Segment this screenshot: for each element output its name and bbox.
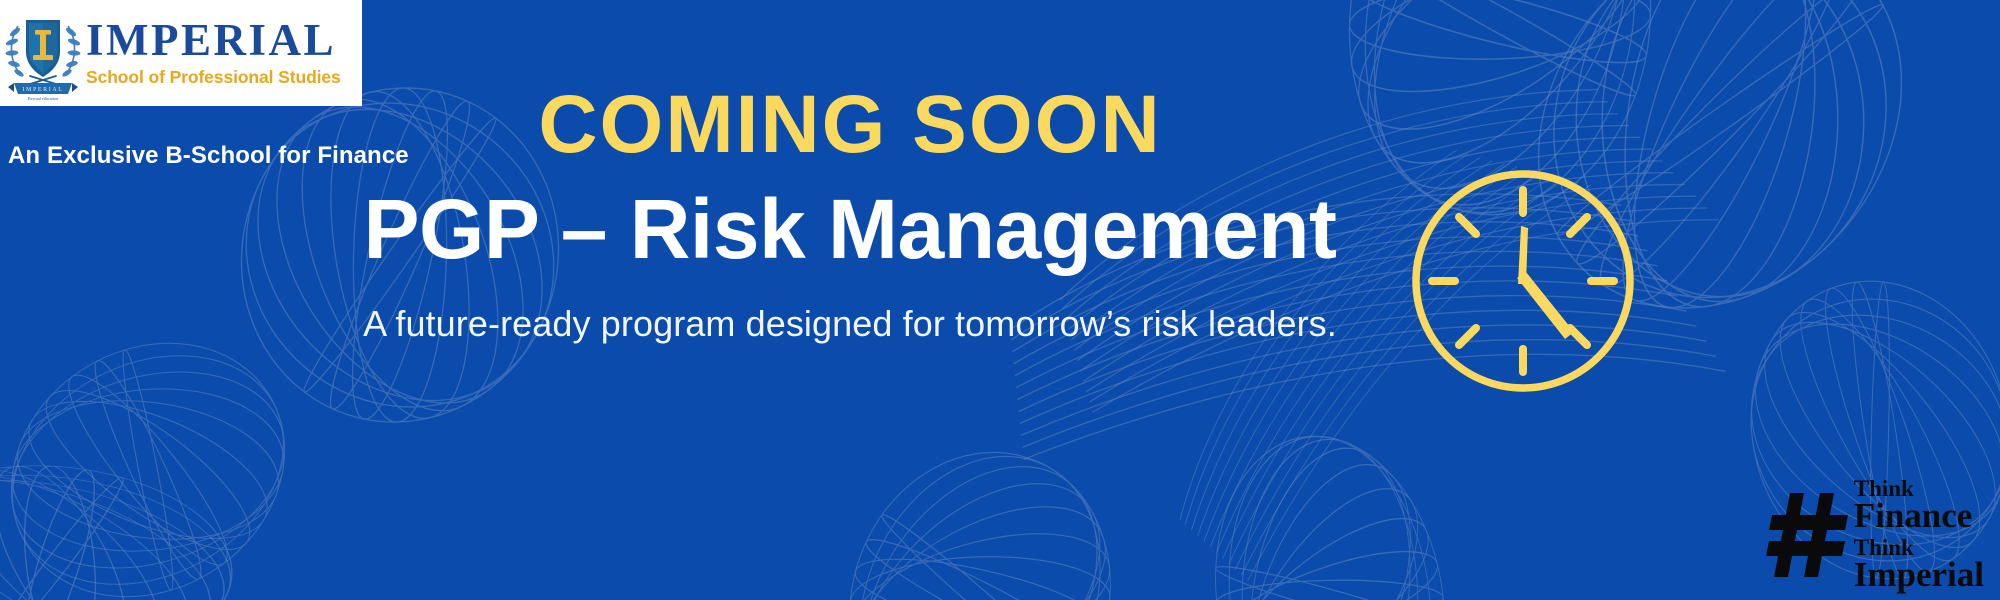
program-tagline: A future-ready program designed for tomo…: [280, 302, 1420, 345]
hash-icon: [1766, 489, 1852, 581]
svg-text:IMPERIAL: IMPERIAL: [22, 87, 63, 93]
coming-soon-eyebrow: COMING SOON: [280, 82, 1420, 168]
logo-sub-wordmark: School of Professional Studies: [86, 67, 341, 88]
imperial-shield-emblem: IMPERIAL Beyond education: [4, 4, 82, 102]
clock-icon: [1408, 166, 1638, 396]
logo-wordmark: IMPERIAL: [86, 18, 341, 63]
hashtag-lockup: Think Finance Think Imperial: [1766, 477, 1984, 592]
program-title: PGP – Risk Management: [280, 182, 1420, 278]
promo-banner: IMPERIAL Beyond education IMPERIAL Schoo…: [0, 0, 2000, 600]
svg-text:Beyond education: Beyond education: [28, 96, 59, 101]
imperial-logo-box: IMPERIAL Beyond education IMPERIAL Schoo…: [0, 0, 362, 106]
logo-wordmark-group: IMPERIAL School of Professional Studies: [86, 18, 341, 88]
hashtag-line1-big: Finance: [1854, 498, 1984, 533]
strapline: An Exclusive B-School for Finance: [8, 142, 409, 170]
hashtag-wordmark: Think Finance Think Imperial: [1854, 477, 1984, 592]
headline-block: COMING SOON PGP – Risk Management A futu…: [280, 82, 1420, 345]
hashtag-line2-big: Imperial: [1854, 557, 1984, 592]
